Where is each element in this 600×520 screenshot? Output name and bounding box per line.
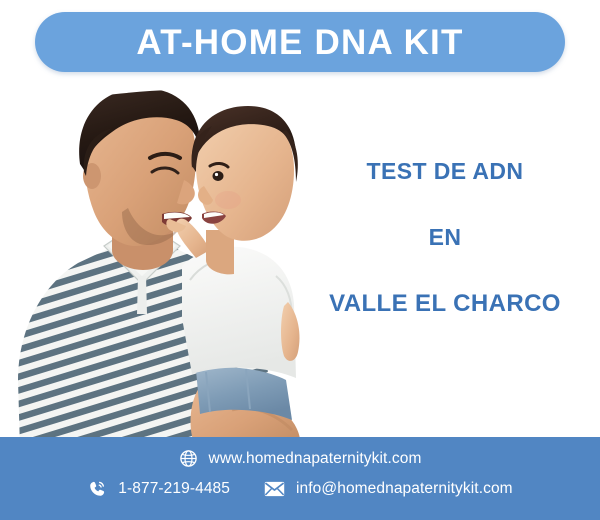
banner-title: AT-HOME DNA KIT [136, 25, 463, 60]
email-contact[interactable]: info@homednapaternitykit.com [264, 480, 513, 498]
footer-row-phone-email: 1-877-219-4485 info@homednapaternitykit.… [0, 479, 600, 499]
phone-icon [87, 479, 107, 499]
headline-line-3: VALLE EL CHARCO [300, 292, 590, 316]
phone-contact[interactable]: 1-877-219-4485 [87, 479, 230, 499]
website-contact[interactable]: www.homednapaternitykit.com [179, 449, 422, 468]
website-text: www.homednapaternitykit.com [209, 450, 422, 468]
email-text: info@homednapaternitykit.com [296, 480, 513, 498]
headline-block: TEST DE ADN EN VALLE EL CHARCO [300, 160, 590, 316]
headline-line-1: TEST DE ADN [300, 160, 590, 183]
envelope-icon [264, 481, 285, 497]
footer-bar: www.homednapaternitykit.com 1-877-219-44… [0, 437, 600, 520]
footer-row-website: www.homednapaternitykit.com [0, 449, 600, 468]
globe-icon [179, 449, 198, 468]
headline-line-2: EN [300, 226, 590, 249]
banner: AT-HOME DNA KIT [35, 12, 565, 72]
father-and-child-photo [0, 80, 310, 448]
phone-text: 1-877-219-4485 [118, 480, 230, 498]
